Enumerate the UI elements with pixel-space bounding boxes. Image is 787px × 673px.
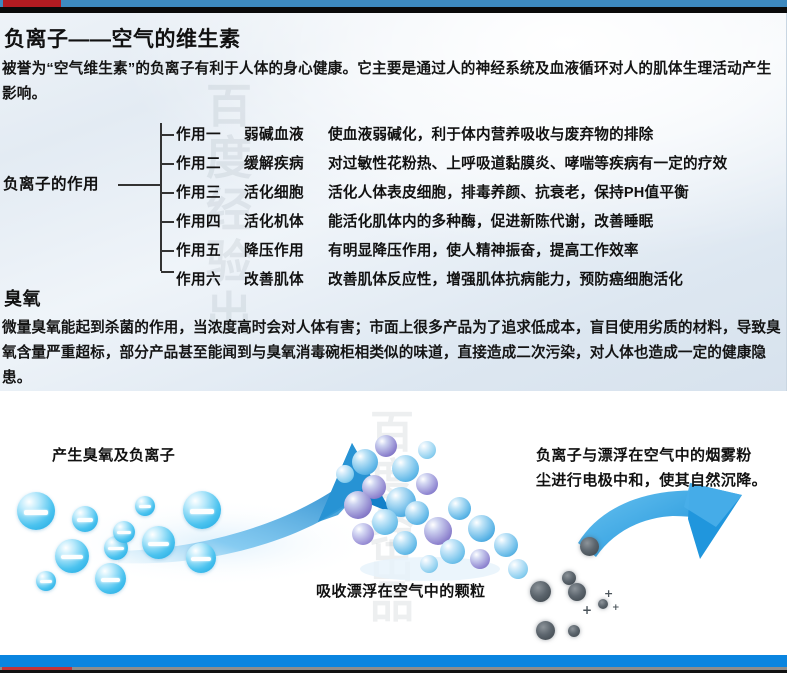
dust-particle — [536, 621, 555, 640]
negative-ion-bubble — [55, 539, 89, 573]
effect-desc: 对过敏性花粉热、上呼吸道黏膜炎、哮喘等疾病有一定的疗效 — [328, 152, 727, 173]
effect-number: 作用四 — [176, 210, 221, 231]
table-row: 作用二 缓解疾病 对过敏性花粉热、上呼吸道黏膜炎、哮喘等疾病有一定的疗效 — [0, 152, 787, 176]
table-row: 作用六 改善肌体 改善肌体反应性，增强肌体抗病能力，预防癌细胞活化 — [0, 268, 787, 292]
row-connector — [161, 250, 174, 252]
dust-plus-sign: + — [612, 603, 620, 613]
row-connector — [161, 221, 174, 223]
molecule-atom — [448, 497, 471, 520]
negative-ion-bubble — [72, 506, 98, 532]
effect-number: 作用一 — [176, 123, 221, 144]
product-detail-page: 百 度 经 验 出 负离子——空气的维生素 被誉为“空气维生素”的负离子有利于人… — [0, 0, 787, 673]
molecule-atom — [392, 455, 419, 482]
dust-particle — [568, 583, 586, 601]
caption-neutralize: 负离子与漂浮在空气中的烟雾粉 尘进行电极中和，使其自然沉降。 — [536, 443, 786, 493]
effect-desc: 活化人体表皮细胞，排毒养颜、抗衰老，保持PH值平衡 — [328, 181, 689, 202]
caption-neutralize-line1: 负离子与漂浮在空气中的烟雾粉 — [536, 443, 786, 468]
molecule-atom — [508, 559, 528, 579]
effect-desc: 使血液弱碱化，利于体内营养吸收与废弃物的排除 — [328, 123, 653, 144]
molecule-atom — [352, 449, 378, 475]
anion-effects-diagram: 负离子的作用 作用一 弱碱血液 使血液弱碱化，利于体内营养吸收与废弃物的排除 作… — [0, 108, 787, 278]
anion-intro-text: 被誉为“空气维生素”的负离子有利于人体的身心健康。它主要是通过人的神经系统及血液… — [2, 57, 782, 107]
dust-particle — [568, 625, 580, 637]
molecule-atom — [416, 473, 438, 495]
effect-key: 降压作用 — [244, 239, 304, 260]
effect-desc: 改善肌体反应性，增强肌体抗病能力，预防癌细胞活化 — [328, 268, 683, 289]
molecule-atom — [336, 465, 354, 483]
dust-plus-sign: + — [604, 587, 613, 600]
molecule-atom — [440, 539, 465, 564]
effect-desc: 有明显降压作用，使人精神振奋，提高工作效率 — [328, 239, 639, 260]
negative-ion-bubble — [186, 543, 216, 573]
caption-absorb-particles: 吸收漂浮在空气中的颗粒 — [316, 579, 485, 604]
molecule-atom — [494, 533, 518, 557]
effect-key: 活化机体 — [244, 210, 304, 231]
effect-number: 作用二 — [176, 152, 221, 173]
molecule-atom — [468, 515, 495, 542]
effect-number: 作用五 — [176, 239, 221, 260]
ionizer-illustration: 百 度 经 出 品 — [0, 391, 787, 655]
table-row: 作用一 弱碱血液 使血液弱碱化，利于体内营养吸收与废弃物的排除 — [0, 123, 787, 147]
dust-particle — [530, 581, 551, 602]
effect-key: 改善肌体 — [244, 268, 304, 289]
molecule-atom — [344, 491, 372, 519]
top-blue-bar — [0, 0, 787, 7]
molecule-atom — [372, 509, 398, 535]
dust-plus-sign: + — [582, 603, 592, 617]
row-connector — [161, 271, 174, 273]
negative-ion-bubble — [17, 492, 55, 530]
dust-particle — [598, 599, 608, 609]
effect-key: 活化细胞 — [244, 181, 304, 202]
negative-ion-bubble — [95, 563, 126, 594]
row-connector — [161, 134, 174, 136]
table-row: 作用三 活化细胞 活化人体表皮细胞，排毒养颜、抗衰老，保持PH值平衡 — [0, 181, 787, 205]
effect-key: 弱碱血液 — [244, 123, 304, 144]
dust-particle — [580, 537, 599, 556]
bottom-blue-bar — [0, 655, 787, 667]
effect-desc: 能活化肌体内的多种酶，促进新陈代谢，改善睡眠 — [328, 210, 653, 231]
ozone-body-text: 微量臭氧能起到杀菌的作用，当浓度高时会对人体有害；市面上很多产品为了追求低成本，… — [2, 316, 784, 391]
table-row: 作用五 降压作用 有明显降压作用，使人精神振奋，提高工作效率 — [0, 239, 787, 263]
negative-ion-bubble — [135, 496, 155, 516]
caption-neutralize-line2: 尘进行电极中和，使其自然沉降。 — [536, 468, 786, 493]
row-connector — [161, 192, 174, 194]
effect-number: 作用六 — [176, 268, 221, 289]
negative-ion-bubble — [142, 526, 175, 559]
molecule-atom — [418, 441, 436, 459]
effect-number: 作用三 — [176, 181, 221, 202]
molecule-atom — [375, 435, 397, 457]
molecule-atom — [405, 501, 429, 525]
ozone-title: 臭氧 — [4, 285, 41, 311]
molecule-atom — [393, 531, 417, 555]
molecule-atom — [470, 549, 490, 569]
table-row: 作用四 活化机体 能活化肌体内的多种酶，促进新陈代谢，改善睡眠 — [0, 210, 787, 234]
caption-produce-ozone: 产生臭氧及负离子 — [52, 443, 175, 468]
negative-ion-bubble — [113, 521, 135, 543]
molecule-atom — [352, 523, 374, 545]
anion-info-panel: 百 度 经 验 出 负离子——空气的维生素 被誉为“空气维生素”的负离子有利于人… — [0, 13, 787, 391]
page-title: 负离子——空气的维生素 — [4, 23, 241, 53]
arrow-down-icon — [578, 483, 742, 559]
negative-ion-bubble — [183, 491, 221, 529]
negative-ion-bubble — [36, 571, 56, 591]
effect-key: 缓解疾病 — [244, 152, 304, 173]
top-red-accent — [3, 0, 61, 7]
row-connector — [161, 163, 174, 165]
molecule-atom — [420, 555, 438, 573]
